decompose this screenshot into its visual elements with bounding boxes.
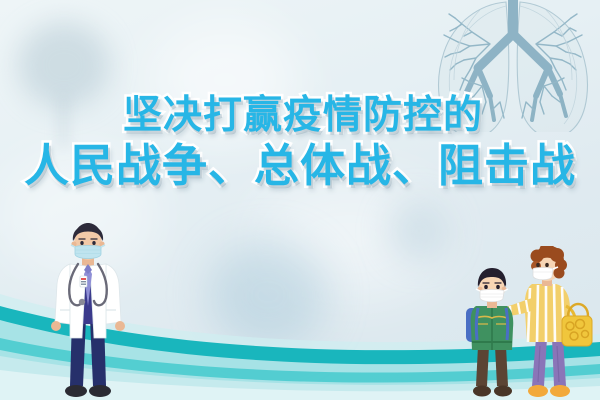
poster-canvas: 坚决打赢疫情防控的 人民战争、总体战、阻击战 [0, 0, 600, 400]
title-line-2: 人民战争、总体战、阻击战 [0, 143, 600, 188]
boy-figure [466, 268, 513, 397]
poster-title: 坚决打赢疫情防控的 人民战争、总体战、阻击战 [0, 96, 600, 188]
doctor-figure [36, 222, 140, 400]
family-figures [462, 246, 594, 400]
title-line-1: 坚决打赢疫情防控的 [0, 96, 600, 135]
background-blurred-blob-right [388, 200, 450, 262]
